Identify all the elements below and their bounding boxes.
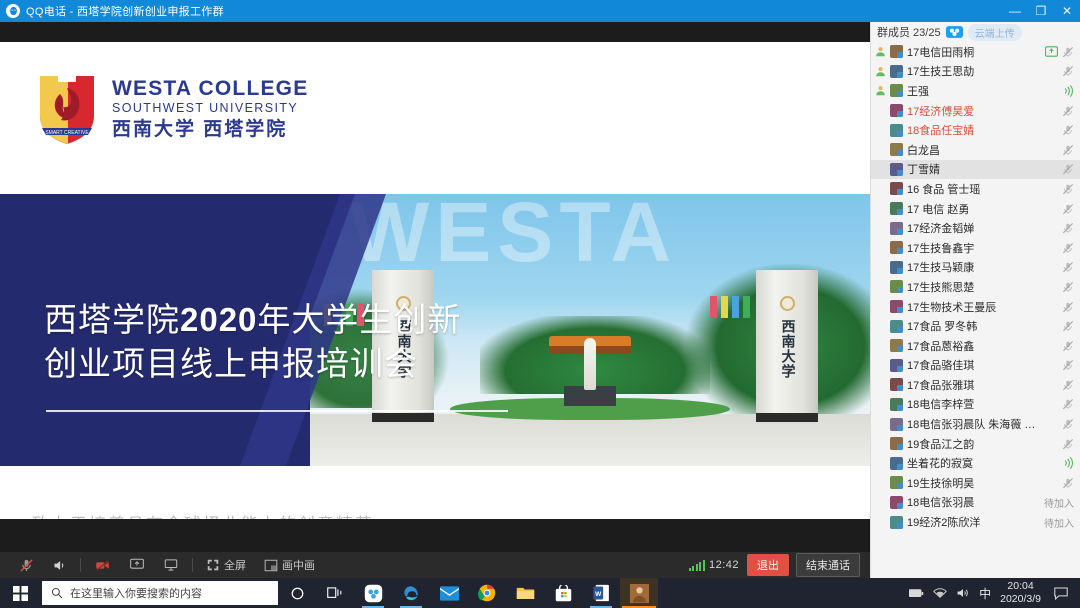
- avatar: [890, 280, 903, 293]
- member-row-status: [1062, 85, 1074, 97]
- member-row-status: [1062, 105, 1074, 117]
- member-row[interactable]: 17生技马颖康: [871, 258, 1080, 278]
- flag-row-right: [710, 296, 750, 318]
- video-stage[interactable]: SMART CREATIVE WESTA COLLEGE SOUTHWEST U…: [0, 22, 870, 552]
- tagline-chinese: 致力于培养具有全球择业能力的创意精英: [32, 510, 377, 519]
- microphone-muted-icon: [1062, 183, 1074, 195]
- fullscreen-label: 全屏: [224, 557, 246, 573]
- member-name: 17食品张雅琪: [907, 377, 1058, 393]
- signal-bars-icon: [689, 560, 705, 571]
- member-row-status: [1062, 379, 1074, 391]
- camera-off-icon: [94, 558, 111, 573]
- member-name: 17经济傅昊爱: [907, 103, 1058, 119]
- member-row[interactable]: 17电信田雨桐: [871, 42, 1080, 62]
- window-controls: — ❐ ✕: [1002, 0, 1080, 22]
- avatar: [890, 45, 903, 58]
- logo-chinese: 西南大学 西塔学院: [112, 120, 308, 140]
- member-row-status: [1062, 65, 1074, 77]
- shared-slide: SMART CREATIVE WESTA COLLEGE SOUTHWEST U…: [0, 42, 870, 519]
- member-row-status: [1062, 144, 1074, 156]
- member-name: 18电信李梓萱: [907, 396, 1058, 412]
- window-title: QQ电话 - 西塔学院创新创业申报工作群: [26, 3, 224, 19]
- avatar: [890, 104, 903, 117]
- member-row[interactable]: 17食品蒽裕鑫: [871, 336, 1080, 356]
- system-tray: 中 20:04 2020/3/9: [909, 578, 1080, 608]
- slide-title-part2: 年大学生创新: [257, 301, 461, 338]
- microphone-muted-icon: [1062, 124, 1074, 136]
- cloud-upload-button[interactable]: 云端上传: [968, 24, 1022, 41]
- member-name: 17食品骆佳琪: [907, 357, 1058, 373]
- member-name: 19经济2陈欣洋: [907, 514, 1040, 530]
- mail-icon[interactable]: [430, 578, 468, 608]
- member-row[interactable]: 坐着花的寂寞: [871, 453, 1080, 473]
- member-pending-status: 待加入: [1044, 495, 1074, 510]
- svg-text:SMART CREATIVE: SMART CREATIVE: [45, 130, 89, 136]
- restore-button[interactable]: ❐: [1028, 0, 1054, 22]
- microphone-muted-icon: [1062, 477, 1074, 489]
- slide-title-year: 2020: [180, 301, 257, 338]
- member-row[interactable]: 17生技王思劼: [871, 62, 1080, 82]
- slide-title-part1: 西塔学院: [44, 301, 180, 338]
- fullscreen-icon: [206, 558, 220, 572]
- avatar: [890, 182, 903, 195]
- member-name: 18食品任宝婧: [907, 122, 1058, 138]
- member-panel-header: 群成员 23/25 云端上传: [871, 22, 1080, 42]
- member-row[interactable]: 17经济金韬婵: [871, 218, 1080, 238]
- microphone-muted-icon: [1062, 281, 1074, 293]
- avatar: [890, 163, 903, 176]
- member-row[interactable]: 17食品张雅琪: [871, 375, 1080, 395]
- windows-start-icon[interactable]: [0, 578, 40, 608]
- cortana-circle-icon[interactable]: [278, 578, 316, 608]
- member-row[interactable]: 18电信张羽晨队 朱海薇 …: [871, 414, 1080, 434]
- member-name: 17经济金韬婵: [907, 220, 1058, 236]
- member-name: 17 电信 赵勇: [907, 201, 1058, 217]
- member-row[interactable]: 19食品江之韵: [871, 434, 1080, 454]
- battery-icon[interactable]: [909, 588, 924, 599]
- member-count: 群成员 23/25: [877, 24, 941, 40]
- avatar: [890, 457, 903, 470]
- avatar: [890, 124, 903, 137]
- avatar: [890, 398, 903, 411]
- avatar: [890, 300, 903, 313]
- picture-in-picture-icon: [264, 559, 278, 572]
- statue: [584, 338, 596, 390]
- qq-call-icon[interactable]: [620, 578, 658, 608]
- microphone-muted-icon: [1062, 46, 1074, 58]
- microphone-muted-icon: [1062, 359, 1074, 371]
- share-screen-icon: [129, 558, 145, 572]
- member-row[interactable]: 17生物技术王曼辰: [871, 297, 1080, 317]
- member-row[interactable]: 17生技熊思楚: [871, 277, 1080, 297]
- wifi-icon[interactable]: [933, 587, 947, 599]
- member-row-status: [1062, 320, 1074, 332]
- minimize-button[interactable]: —: [1002, 0, 1028, 22]
- admin-badge-icon: [875, 85, 886, 96]
- member-name: 17食品 罗冬韩: [907, 318, 1058, 334]
- microphone-muted-icon: [1062, 222, 1074, 234]
- member-row-status: [1045, 46, 1074, 58]
- admin-badge-icon: [875, 46, 886, 57]
- member-name: 17生技王思劼: [907, 63, 1058, 79]
- hangup-button[interactable]: 结束通话: [796, 553, 860, 577]
- taskbar-clock[interactable]: 20:04 2020/3/9: [1000, 580, 1041, 606]
- clock-date: 2020/3/9: [1000, 593, 1041, 606]
- avatar: [890, 359, 903, 372]
- camera-toggle[interactable]: [85, 552, 120, 578]
- member-row[interactable]: 18电信张羽晨待加入: [871, 493, 1080, 513]
- microphone-muted-icon: [1062, 203, 1074, 215]
- member-row-status: [1062, 438, 1074, 450]
- presentation-icon: [163, 558, 179, 572]
- avatar: [890, 378, 903, 391]
- member-row-status: [1062, 163, 1074, 175]
- member-panel: 群成员 23/25 云端上传 17电信田雨桐17生技王思劼王强17经济傅昊爱18…: [870, 22, 1080, 578]
- speaker-icon: [52, 558, 67, 573]
- qq-logo-icon: [6, 4, 20, 18]
- presentation-button[interactable]: [154, 552, 188, 578]
- member-name: 16 食品 管士瑶: [907, 181, 1058, 197]
- member-list[interactable]: 17电信田雨桐17生技王思劼王强17经济傅昊爱18食品任宝婧白龙昌丁雪婧16 食…: [871, 42, 1080, 578]
- member-row[interactable]: 18食品任宝婧: [871, 120, 1080, 140]
- microphone-muted-icon: [1062, 163, 1074, 175]
- microphone-muted-icon: [1062, 261, 1074, 273]
- microphone-muted-icon: [1062, 301, 1074, 313]
- microphone-muted-icon: [1062, 105, 1074, 117]
- member-row-status: [1062, 340, 1074, 352]
- speaking-wave-icon: [1062, 457, 1074, 469]
- avatar: [890, 496, 903, 509]
- member-row-status: [1062, 301, 1074, 313]
- share-screen-button[interactable]: [120, 552, 154, 578]
- avatar: [890, 261, 903, 274]
- avatar: [890, 339, 903, 352]
- westa-crest-icon: SMART CREATIVE: [36, 72, 98, 146]
- member-row[interactable]: 17食品 罗冬韩: [871, 316, 1080, 336]
- slide-title-line2: 创业项目线上申报培训会: [44, 342, 461, 386]
- member-row[interactable]: 19经济2陈欣洋待加入: [871, 512, 1080, 532]
- toolbar-divider-1: [80, 558, 81, 572]
- member-row[interactable]: 18电信李梓萱: [871, 395, 1080, 415]
- member-row-status: [1062, 261, 1074, 273]
- speaking-wave-icon: [1062, 85, 1074, 97]
- member-name: 18电信张羽晨队 朱海薇 …: [907, 416, 1058, 432]
- avatar: [890, 437, 903, 450]
- member-name: 丁雪婧: [907, 161, 1058, 177]
- slide-tagline: 致力于培养具有全球择业能力的创意精英 Cultivating Smart Cre…: [32, 510, 377, 519]
- microphone-muted-icon: [1062, 65, 1074, 77]
- microphone-muted-icon: [19, 558, 34, 573]
- call-toolbar: 全屏 画中画 12:42 退出 结束通话: [0, 552, 870, 578]
- avatar: [890, 241, 903, 254]
- file-explorer-icon[interactable]: [506, 578, 544, 608]
- screen-share-active-icon: [1045, 46, 1058, 57]
- member-row-status: [1062, 242, 1074, 254]
- microphone-muted-icon: [1062, 144, 1074, 156]
- member-row-status: 待加入: [1044, 495, 1074, 510]
- task-view-icon[interactable]: [316, 578, 354, 608]
- speaker-toggle[interactable]: [43, 552, 76, 578]
- avatar: [890, 476, 903, 489]
- clock-time: 20:04: [1000, 580, 1041, 593]
- volume-icon[interactable]: [956, 587, 970, 599]
- microphone-muted-icon: [1062, 438, 1074, 450]
- avatar: [890, 202, 903, 215]
- microsoft-store-icon[interactable]: [544, 578, 582, 608]
- microphone-toggle[interactable]: [10, 552, 43, 578]
- member-row-status: [1062, 222, 1074, 234]
- logo-english-line1: WESTA COLLEGE: [112, 78, 308, 100]
- microphone-muted-icon: [1062, 379, 1074, 391]
- microphone-muted-icon: [1062, 398, 1074, 410]
- logo-english-line2: SOUTHWEST UNIVERSITY: [112, 102, 308, 115]
- edge-icon[interactable]: [392, 578, 430, 608]
- member-row[interactable]: 16 食品 管士瑶: [871, 179, 1080, 199]
- avatar: [890, 320, 903, 333]
- avatar: [890, 143, 903, 156]
- member-name: 白龙昌: [907, 142, 1058, 158]
- call-timer: 12:42: [709, 559, 739, 571]
- avatar: [890, 222, 903, 235]
- toolbar-divider-2: [192, 558, 193, 572]
- microphone-muted-icon: [1062, 418, 1074, 430]
- member-row[interactable]: 王强: [871, 81, 1080, 101]
- member-row-status: [1062, 457, 1074, 469]
- college-logo: SMART CREATIVE WESTA COLLEGE SOUTHWEST U…: [36, 72, 308, 146]
- window-titlebar: QQ电话 - 西塔学院创新创业申报工作群 — ❐ ✕: [0, 0, 1080, 22]
- member-name: 17生技熊思楚: [907, 279, 1058, 295]
- notification-icon[interactable]: [1050, 578, 1072, 608]
- member-row-status: [1062, 203, 1074, 215]
- member-row-status: [1062, 418, 1074, 430]
- member-row[interactable]: 17 电信 赵勇: [871, 199, 1080, 219]
- slide-title: 西塔学院2020年大学生创新 创业项目线上申报培训会: [44, 298, 461, 386]
- admin-badge-icon: [875, 66, 886, 77]
- cloud-share-icon[interactable]: [946, 25, 963, 39]
- member-name: 19食品江之韵: [907, 436, 1058, 452]
- chrome-icon[interactable]: [468, 578, 506, 608]
- svg-text:W: W: [595, 591, 602, 598]
- windows-taskbar: 在这里输入你要搜索的内容: [0, 578, 1080, 608]
- member-row[interactable]: 丁雪婧: [871, 160, 1080, 180]
- pip-button[interactable]: 画中画: [255, 552, 324, 578]
- microphone-muted-icon: [1062, 320, 1074, 332]
- pillar-seal-right: [780, 296, 795, 311]
- member-name: 18电信张羽晨: [907, 494, 1040, 510]
- member-name: 17电信田雨桐: [907, 44, 1041, 60]
- member-row[interactable]: 白龙昌: [871, 140, 1080, 160]
- search-icon: [51, 587, 63, 599]
- title-underline: [46, 410, 508, 412]
- pip-label: 画中画: [282, 557, 315, 573]
- member-name: 19生技徐明昊: [907, 475, 1058, 491]
- pillar-right-text: 西南大学: [779, 319, 794, 379]
- search-placeholder: 在这里输入你要搜索的内容: [70, 585, 202, 601]
- member-row[interactable]: 17生技鲁鑫宇: [871, 238, 1080, 258]
- member-row[interactable]: 17经济傅昊爱: [871, 101, 1080, 121]
- member-row-status: [1062, 124, 1074, 136]
- microphone-muted-icon: [1062, 340, 1074, 352]
- member-name: 17生技鲁鑫宇: [907, 240, 1058, 256]
- member-name: 17生物技术王曼辰: [907, 299, 1058, 315]
- avatar: [890, 516, 903, 529]
- close-button[interactable]: ✕: [1054, 0, 1080, 22]
- member-row-status: [1062, 359, 1074, 371]
- taskbar-search[interactable]: 在这里输入你要搜索的内容: [42, 581, 278, 605]
- member-row-status: [1062, 398, 1074, 410]
- avatar: [890, 84, 903, 97]
- fullscreen-button[interactable]: 全屏: [197, 552, 255, 578]
- member-row[interactable]: 19生技徐明昊: [871, 473, 1080, 493]
- gate-pillar-right: 西南大学: [756, 270, 818, 422]
- member-name: 17食品蒽裕鑫: [907, 338, 1058, 354]
- member-pending-status: 待加入: [1044, 515, 1074, 530]
- westa-watermark: WESTA: [350, 194, 677, 281]
- screen: QQ电话 - 西塔学院创新创业申报工作群 — ❐ ✕ SMART CREATIV…: [0, 0, 1080, 608]
- member-row-status: 待加入: [1044, 515, 1074, 530]
- member-row[interactable]: 17食品骆佳琪: [871, 356, 1080, 376]
- word-icon[interactable]: W: [582, 578, 620, 608]
- avatar: [890, 418, 903, 431]
- member-name: 王强: [907, 83, 1058, 99]
- member-row-status: [1062, 477, 1074, 489]
- qq-icon[interactable]: [354, 578, 392, 608]
- member-name: 坐着花的寂寞: [907, 455, 1058, 471]
- ime-indicator[interactable]: 中: [979, 585, 991, 602]
- member-row-status: [1062, 281, 1074, 293]
- exit-button[interactable]: 退出: [747, 554, 789, 576]
- microphone-muted-icon: [1062, 242, 1074, 254]
- avatar: [890, 65, 903, 78]
- member-row-status: [1062, 183, 1074, 195]
- member-name: 17生技马颖康: [907, 259, 1058, 275]
